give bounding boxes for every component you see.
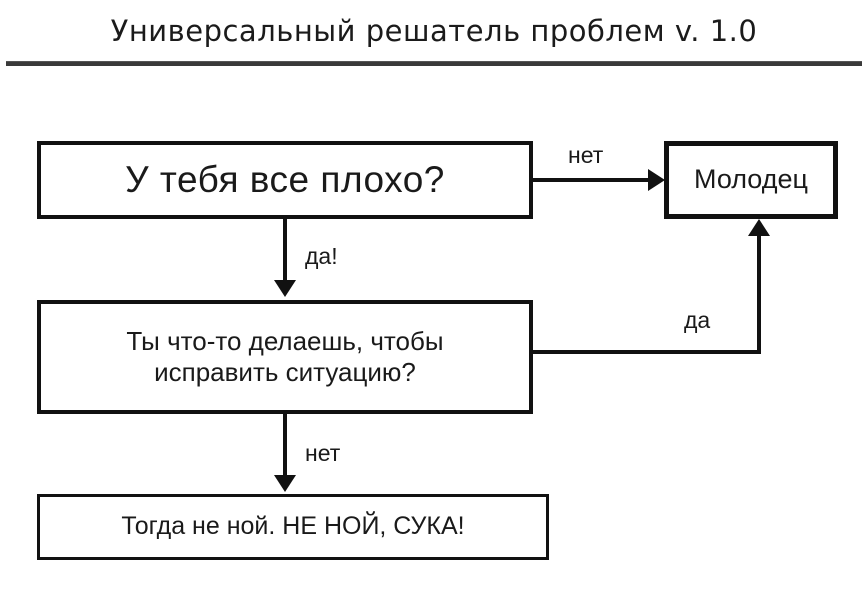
node-well-done-label: Молодец [694, 164, 808, 196]
edge-yes-to-well-done-arrowhead [748, 219, 770, 236]
node-stop-whining-label: Тогда не ной. НЕ НОЙ, СУКА! [121, 512, 464, 542]
diagram-canvas: Универсальный решатель проблем v. 1.0 У … [0, 0, 868, 604]
edge-label-no-top: нет [568, 142, 603, 169]
edge-label-no-bottom: нет [305, 440, 340, 467]
edge-no-to-well-done-arrowhead [648, 169, 665, 191]
edge-yes-to-action-line [283, 219, 287, 282]
node-stop-whining: Тогда не ной. НЕ НОЙ, СУКА! [37, 494, 549, 560]
edge-yes-to-action-arrowhead [274, 280, 296, 297]
edge-label-yes-right: да [684, 307, 710, 334]
edge-no-to-stop-arrowhead [274, 475, 296, 492]
node-taking-action-line1: Ты что-то делаешь, чтобы [126, 326, 443, 357]
node-problem-question-label: У тебя все плохо? [125, 158, 445, 202]
node-taking-action-question-text: Ты что-то делаешь, чтобы исправить ситуа… [126, 326, 443, 387]
edge-yes-to-well-done-horizontal [533, 350, 761, 354]
edge-no-to-stop-line [283, 414, 287, 476]
node-problem-question: У тебя все плохо? [37, 141, 533, 219]
page-title: Универсальный решатель проблем v. 1.0 [0, 14, 868, 48]
node-well-done: Молодец [664, 141, 838, 219]
node-taking-action-question: Ты что-то делаешь, чтобы исправить ситуа… [37, 300, 533, 414]
edge-label-yes-emphatic: да! [305, 243, 338, 270]
node-taking-action-line2: исправить ситуацию? [126, 357, 443, 388]
edge-yes-to-well-done-vertical [757, 236, 761, 354]
edge-no-to-well-done-line [533, 178, 650, 182]
title-divider [6, 61, 862, 66]
